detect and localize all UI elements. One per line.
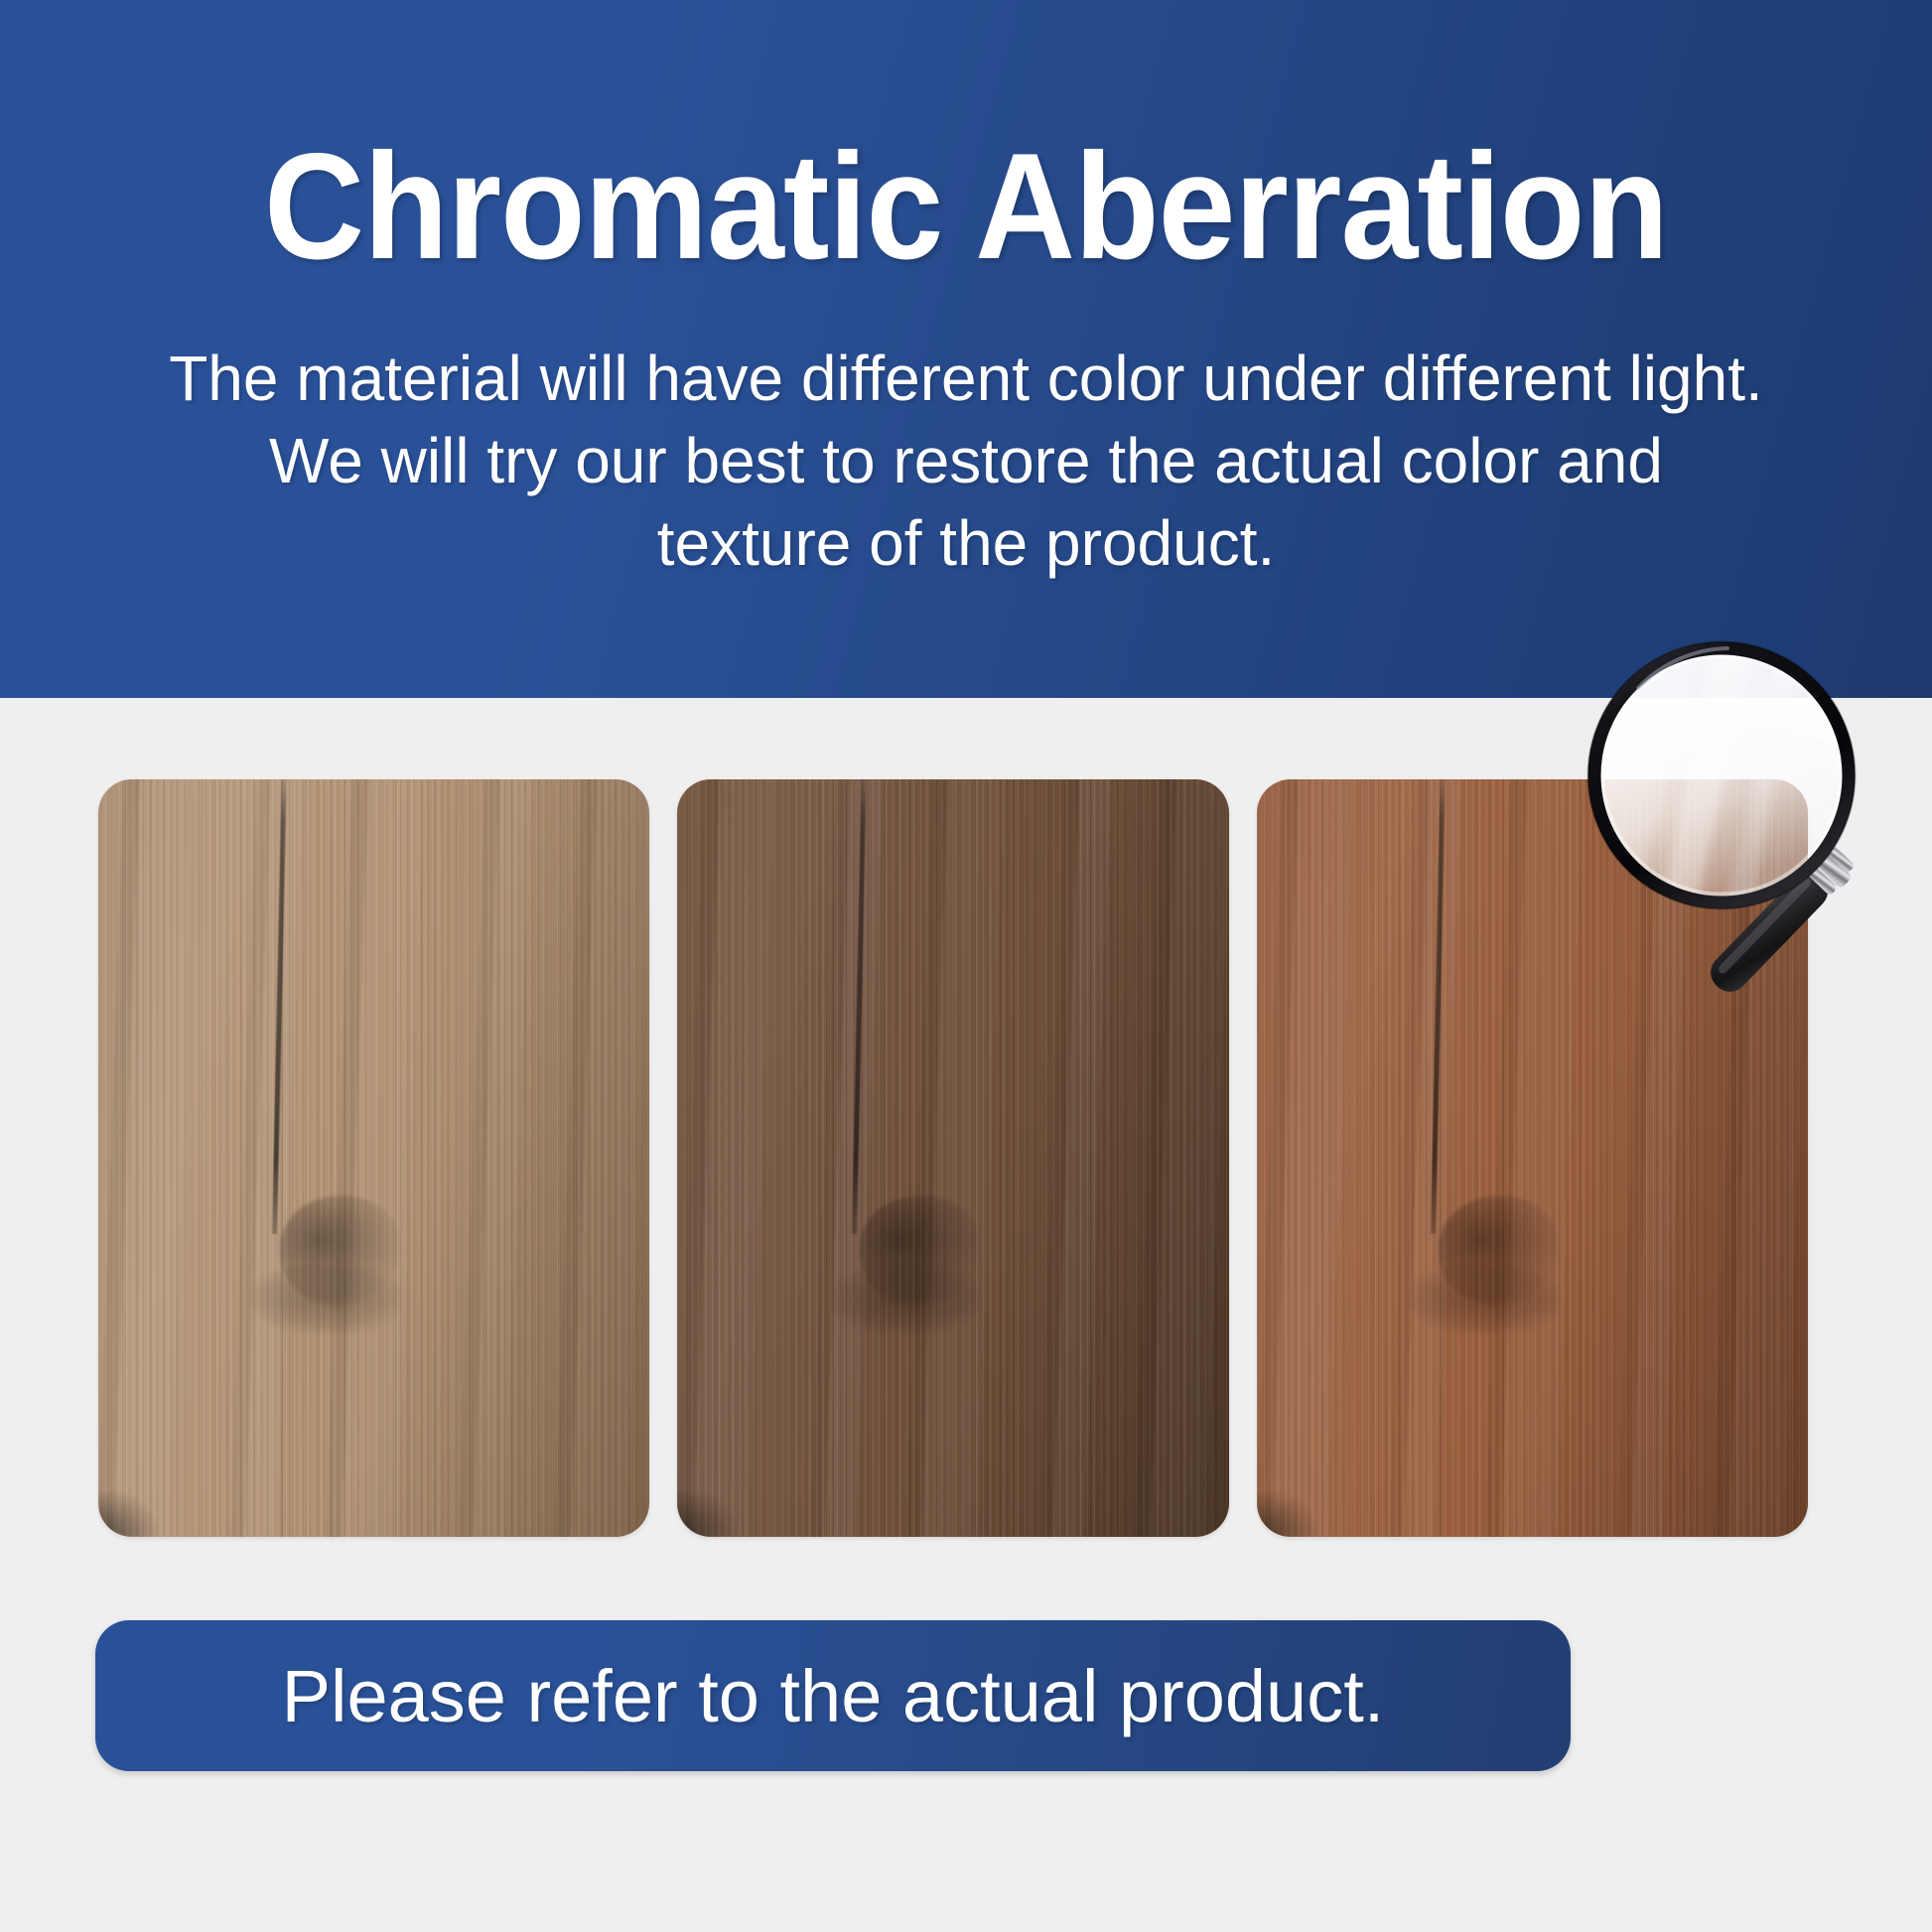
header-banner: Chromatic Aberration The material will h… (0, 0, 1932, 698)
wood-lighting-overlay (98, 779, 649, 1537)
wood-lighting-overlay (1257, 779, 1808, 1537)
dark-walnut-swatch[interactable] (677, 779, 1228, 1537)
chromatic-aberration-infographic: Chromatic Aberration The material will h… (0, 0, 1932, 1932)
cta-button-label: Please refer to the actual product. (282, 1654, 1385, 1738)
wood-lighting-overlay (677, 779, 1228, 1537)
subtitle-line-1: The material will have different color u… (72, 338, 1860, 420)
warm-teak-swatch[interactable] (1257, 779, 1808, 1537)
header-subtitle: The material will have different color u… (72, 338, 1860, 586)
wood-swatch-row (98, 779, 1808, 1537)
subtitle-line-2: We will try our best to restore the actu… (72, 420, 1860, 502)
light-oak-swatch[interactable] (98, 779, 649, 1537)
refer-to-actual-product-button[interactable]: Please refer to the actual product. (95, 1620, 1571, 1771)
magnifier-ferrule (1801, 839, 1860, 897)
subtitle-line-3: texture of the product. (72, 502, 1860, 585)
page-title: Chromatic Aberration (77, 131, 1855, 282)
